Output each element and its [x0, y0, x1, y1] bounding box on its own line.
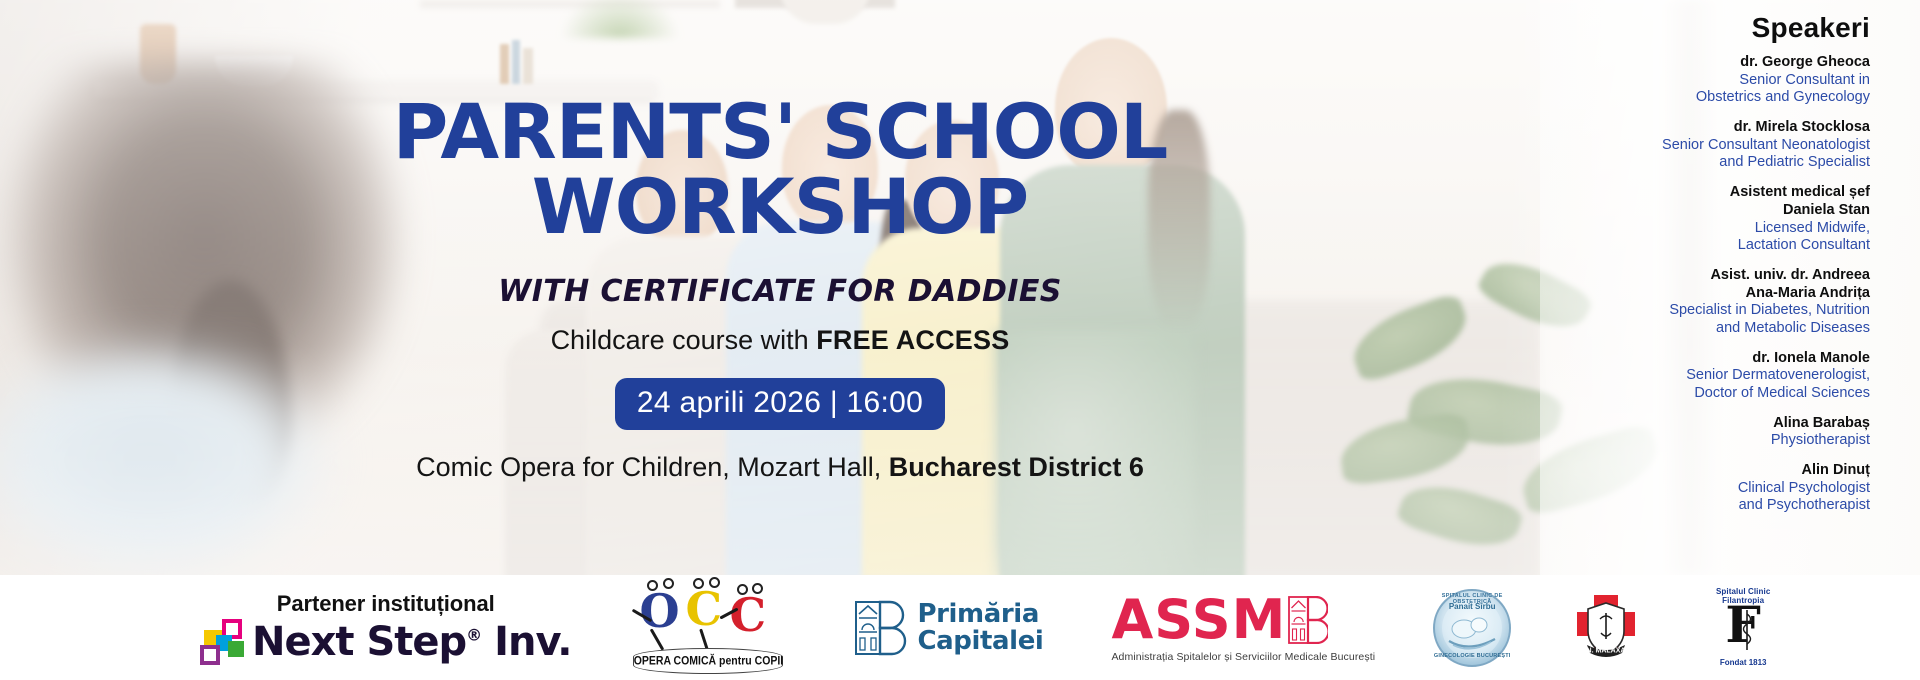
occ-eye-icon [693, 578, 704, 589]
next-step-suffix: Inv. [481, 619, 571, 665]
date-badge[interactable]: 24 aprili 2026 | 16:00 [615, 378, 945, 430]
speaker-item: dr. Ionela Manole Senior Dermatovenerolo… [1540, 350, 1870, 403]
primaria-wordmark: Primăria Capitalei [917, 601, 1043, 654]
partner-logo-bar: Partener instituțional Next Step® Inv. O… [0, 575, 1920, 680]
primaria-building-icon [855, 600, 907, 656]
free-access-line: Childcare course with FREE ACCESS [0, 325, 1560, 356]
venue-district: Bucharest District 6 [889, 452, 1144, 482]
speaker-item: Alina Barabaș Physiotherapist [1540, 415, 1870, 450]
occ-letter-o: O [639, 584, 679, 638]
filantropia-founded-text: Fondat 1813 [1701, 658, 1785, 667]
occ-letter-c1: C [685, 582, 722, 636]
assmb-building-b-icon [1288, 596, 1328, 644]
poster-banner: PARENTS' SCHOOL WORKSHOP WITH CERTIFICAT… [0, 0, 1920, 680]
primaria-line-2: Capitalei [917, 628, 1043, 655]
registered-mark: ® [466, 625, 481, 644]
speaker-role: Licensed Midwife, Lactation Consultant [1540, 220, 1870, 255]
logo-next-step-inv[interactable]: Partener instituțional Next Step® Inv. [200, 591, 571, 665]
square-green-icon [228, 641, 244, 657]
primaria-line-1: Primăria [917, 601, 1043, 628]
speaker-role: Senior Dermatovenerologist, Doctor of Me… [1540, 367, 1870, 402]
headline-block: PARENTS' SCHOOL WORKSHOP WITH CERTIFICAT… [0, 96, 1560, 483]
speaker-name: Asistent medical șef Daniela Stan [1540, 184, 1870, 219]
speakers-panel: Speakeri dr. George Gheoca Senior Consul… [1540, 0, 1920, 575]
next-step-row: Next Step® Inv. [200, 619, 571, 665]
speaker-name: Alina Barabaș [1540, 415, 1870, 433]
speaker-name: dr. Mirela Stocklosa [1540, 119, 1870, 137]
speakers-title: Speakeri [1540, 12, 1870, 44]
occ-eye-icon [709, 577, 720, 588]
venue-line: Comic Opera for Children, Mozart Hall, B… [0, 452, 1560, 483]
date-badge-wrap: 24 aprili 2026 | 16:00 [0, 356, 1560, 430]
speaker-role: Physiotherapist [1540, 432, 1870, 450]
speaker-role: Clinical Psychologist and Psychotherapis… [1540, 480, 1870, 515]
speaker-item: dr. George Gheoca Senior Consultant in O… [1540, 54, 1870, 107]
speaker-item: Alin Dinuț Clinical Psychologist and Psy… [1540, 462, 1870, 515]
assmb-subtitle: Administrația Spitalelor și Serviciilor … [1111, 651, 1375, 663]
asclepius-rod-icon [1701, 588, 1785, 668]
occ-banner: OPERA COMICĂ pentru COPII [633, 648, 783, 674]
partner-caption: Partener instituțional [200, 591, 571, 617]
malaxa-cross-shield-icon: N. MALAXA [1567, 589, 1645, 667]
occ-banner-text: OPERA COMICĂ pentru COPII [634, 654, 784, 667]
assmb-row: ASSM [1111, 593, 1375, 647]
speaker-name: Alin Dinuț [1540, 462, 1870, 480]
speaker-item: dr. Mirela Stocklosa Senior Consultant N… [1540, 119, 1870, 172]
occ-eye-icon [647, 580, 658, 591]
certificate-subtitle: WITH CERTIFICATE FOR DADDIES [0, 274, 1560, 309]
square-purple-icon [200, 645, 220, 665]
page-title-line-1: PARENTS' SCHOOL [0, 96, 1560, 169]
logo-n-malaxa[interactable]: N. MALAXA [1567, 589, 1645, 667]
speaker-role: Senior Consultant Neonatologist and Pedi… [1540, 137, 1870, 172]
speaker-name: Asist. univ. dr. Andreea Ana-Maria Andri… [1540, 267, 1870, 302]
venue-prefix: Comic Opera for Children, Mozart Hall, [416, 452, 889, 482]
free-access-emphasis: FREE ACCESS [816, 325, 1009, 355]
occ-eye-icon [663, 578, 674, 589]
next-step-squares-icon [200, 619, 246, 665]
speaker-name: dr. George Gheoca [1540, 54, 1870, 72]
assmb-wordmark: ASSM [1111, 593, 1286, 647]
next-step-wordmark: Next Step® Inv. [252, 619, 571, 665]
logo-primaria-capitalei[interactable]: Primăria Capitalei [855, 600, 1043, 656]
logo-spitalul-filantropia[interactable]: Spitalul Clinic Filantropia F Fondat 181… [1701, 588, 1785, 668]
speaker-name: dr. Ionela Manole [1540, 350, 1870, 368]
speaker-role: Specialist in Diabetes, Nutrition and Me… [1540, 302, 1870, 337]
occ-eye-icon [752, 583, 763, 594]
logo-assmb[interactable]: ASSM Administrația Spitalelor și Servici… [1111, 593, 1375, 663]
page-title-line-2: WORKSHOP [0, 171, 1560, 244]
logo-panait-sirbu[interactable]: SPITALUL CLINIC DE OBSTETRICĂ Panait Sîr… [1433, 589, 1511, 667]
occ-eye-icon [737, 584, 748, 595]
next-step-word: Next Step [252, 619, 466, 665]
speaker-item: Asist. univ. dr. Andreea Ana-Maria Andri… [1540, 267, 1870, 338]
malaxa-name: N. MALAXA [1587, 647, 1626, 654]
logo-opera-comica[interactable]: O C C OPERA COMICĂ pentru COPII [633, 582, 783, 674]
occ-letter-c2: C [729, 588, 766, 642]
speaker-item: Asistent medical șef Daniela Stan Licens… [1540, 184, 1870, 255]
seal-arc-bottom: GINECOLOGIE BUCUREȘTI [1433, 653, 1511, 659]
free-access-prefix: Childcare course with [551, 325, 817, 355]
speaker-role: Senior Consultant in Obstetrics and Gyne… [1540, 72, 1870, 107]
